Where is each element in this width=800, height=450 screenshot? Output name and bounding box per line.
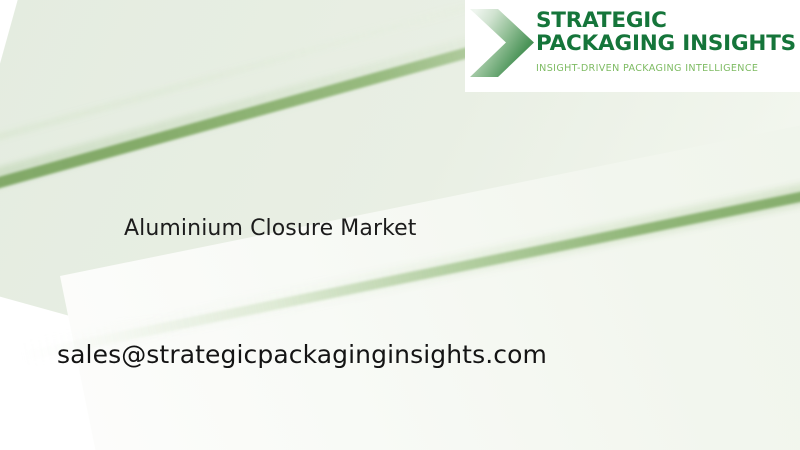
chevron-arrow-icon: [468, 8, 536, 78]
contact-email: sales@strategicpackaginginsights.com: [57, 340, 547, 369]
bottom-right-green-stripe: [20, 179, 800, 362]
bottom-right-stripe-sheen: [20, 171, 800, 365]
brand-wordmark: STRATEGIC PACKAGING INSIGHTS INSIGHT-DRI…: [536, 9, 794, 74]
brand-tagline: INSIGHT-DRIVEN PACKAGING INTELLIGENCE: [536, 63, 794, 74]
page-title: Aluminium Closure Market: [124, 216, 417, 241]
brand-name-line-1: STRATEGIC: [536, 9, 794, 32]
slide-canvas: STRATEGIC PACKAGING INSIGHTS INSIGHT-DRI…: [0, 0, 800, 450]
bottom-right-green-wedge: [60, 77, 800, 450]
brand-logo: STRATEGIC PACKAGING INSIGHTS INSIGHT-DRI…: [465, 0, 800, 92]
brand-name-line-2: PACKAGING INSIGHTS: [536, 32, 794, 55]
